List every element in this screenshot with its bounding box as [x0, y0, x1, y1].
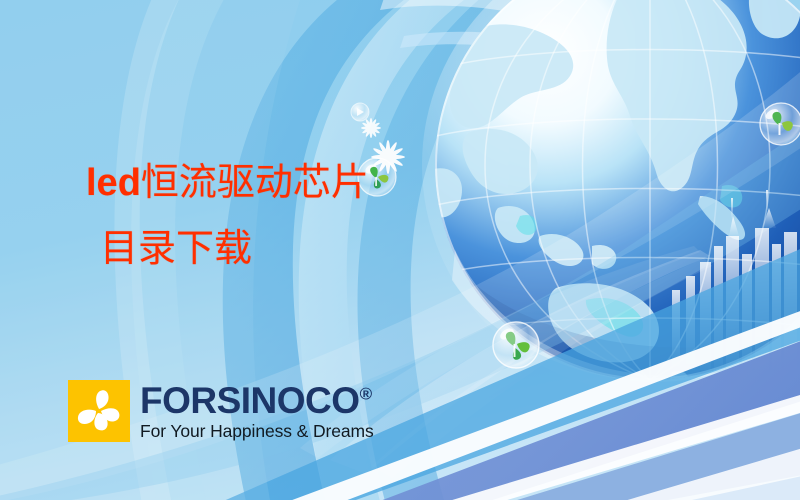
- promo-banner: led恒流驱动芯片 目录下载 FORSINOCO® For Your Happi…: [0, 0, 800, 500]
- headline-text: led恒流驱动芯片 目录下载: [86, 163, 369, 269]
- logo-text-block: FORSINOCO® For Your Happiness & Dreams: [140, 382, 374, 441]
- bubble-plain-small: [351, 103, 369, 121]
- headline-cjk-word: 恒流驱动芯片: [141, 160, 369, 204]
- bubble-windmill-lower: [493, 322, 539, 368]
- headline-latin-word: led: [86, 162, 141, 204]
- bubble-windmill-right: [760, 103, 800, 145]
- logo-wordmark-text: FORSINOCO: [140, 380, 360, 421]
- forsinoco-logo[interactable]: FORSINOCO® For Your Happiness & Dreams: [68, 380, 374, 442]
- logo-wordmark: FORSINOCO®: [140, 382, 374, 419]
- headline-line-2: 目录下载: [100, 229, 369, 269]
- petal-mark-icon: [68, 380, 130, 442]
- logo-tagline: For Your Happiness & Dreams: [140, 423, 374, 441]
- forsinoco-petal-mark: [68, 380, 130, 442]
- registered-trademark-icon: ®: [360, 384, 372, 403]
- headline-line-1: led恒流驱动芯片: [86, 163, 369, 204]
